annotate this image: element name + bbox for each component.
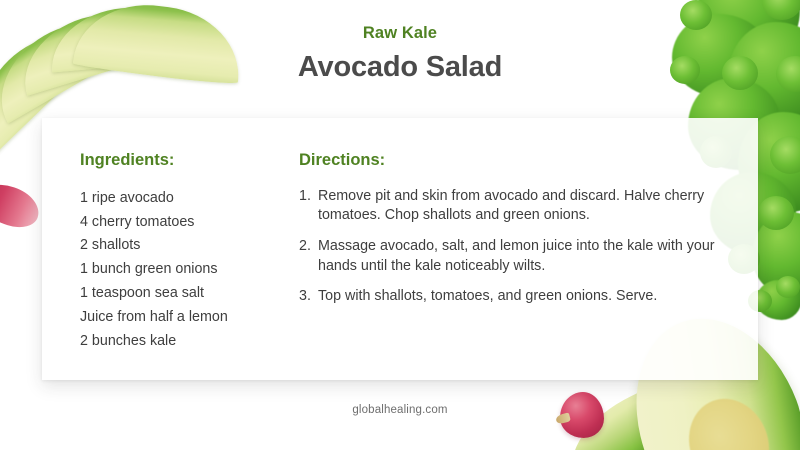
recipe-card-image: Raw Kale Avocado Salad Ingredients: 1 ri… [0, 0, 800, 450]
list-item: 1 teaspoon sea salt [80, 282, 290, 306]
step-text: Top with shallots, tomatoes, and green o… [318, 288, 657, 304]
directions-list: 1. Remove pit and skin from avocado and … [299, 187, 729, 307]
avocado-pit-cavity-icon [676, 387, 782, 450]
ingredients-list: 1 ripe avocado 4 cherry tomatoes 2 shall… [80, 187, 290, 354]
step-number: 2. [299, 237, 318, 257]
recipe-content-card: Ingredients: 1 ripe avocado 4 cherry tom… [42, 118, 758, 380]
list-item: Juice from half a lemon [80, 306, 290, 330]
list-item: 3. Top with shallots, tomatoes, and gree… [299, 287, 729, 307]
shallot-image [556, 390, 612, 442]
list-item: 1 ripe avocado [80, 187, 290, 211]
list-item: 1. Remove pit and skin from avocado and … [299, 187, 729, 226]
directions-section: Directions: 1. Remove pit and skin from … [299, 151, 729, 307]
recipe-kicker: Raw Kale [0, 24, 800, 44]
shallot-clove-image [0, 182, 44, 230]
ingredients-section: Ingredients: 1 ripe avocado 4 cherry tom… [80, 151, 290, 353]
step-number: 1. [299, 187, 318, 207]
list-item: 1 bunch green onions [80, 258, 290, 282]
directions-heading: Directions: [299, 151, 729, 171]
list-item: 2 shallots [80, 234, 290, 258]
shallot-clove-icon [0, 177, 44, 234]
ingredients-heading: Ingredients: [80, 151, 290, 171]
step-text: Remove pit and skin from avocado and dis… [318, 188, 704, 224]
list-item: 2 bunches kale [80, 330, 290, 354]
footer-website-url: globalhealing.com [0, 404, 800, 416]
step-text: Massage avocado, salt, and lemon juice i… [318, 238, 715, 274]
recipe-header: Raw Kale Avocado Salad [0, 24, 800, 84]
list-item: 2. Massage avocado, salt, and lemon juic… [299, 237, 729, 276]
list-item: 4 cherry tomatoes [80, 211, 290, 235]
page-title: Avocado Salad [0, 51, 800, 84]
step-number: 3. [299, 287, 318, 307]
